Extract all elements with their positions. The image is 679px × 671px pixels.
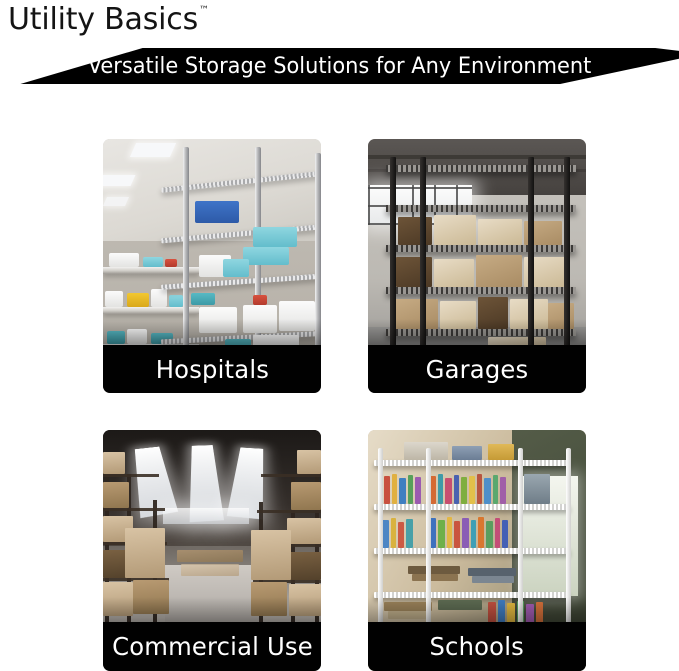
pallet-load <box>297 450 321 474</box>
brand-name: Utility Basics <box>8 2 198 38</box>
book-spine <box>398 522 404 548</box>
storage-bin <box>253 295 267 305</box>
cardboard-box <box>434 259 474 287</box>
cardboard-box <box>396 257 432 287</box>
ceiling-light <box>103 175 135 186</box>
book-stack <box>384 602 432 611</box>
shelf-post <box>183 147 189 377</box>
book-spine <box>477 474 482 504</box>
book-stack <box>408 566 460 574</box>
shelf-post <box>564 157 570 373</box>
cardboard-box <box>478 219 522 245</box>
book-spine <box>493 475 498 504</box>
storage-bin <box>279 301 315 331</box>
pallet-load <box>177 550 243 562</box>
supply-item <box>151 289 167 307</box>
book-stack <box>388 611 430 619</box>
pallet-load <box>103 582 133 616</box>
supply-item <box>109 253 139 267</box>
cardboard-box <box>478 297 508 329</box>
shelf-post <box>528 157 534 373</box>
book-spine <box>438 520 445 548</box>
wire-shelf <box>374 548 570 554</box>
book-spine <box>454 475 459 504</box>
category-card-schools[interactable]: Schools <box>368 430 586 671</box>
shelf-post <box>518 448 523 644</box>
pallet-load <box>125 528 165 578</box>
book-spine <box>384 476 390 504</box>
category-label: Schools <box>430 632 524 661</box>
rack-beam <box>103 474 159 477</box>
shelf-item <box>524 474 550 504</box>
book-stack <box>412 574 458 581</box>
rack-beam <box>257 510 321 513</box>
shelf-post <box>315 153 321 375</box>
ceiling-light <box>130 143 176 157</box>
book-spine <box>408 475 413 504</box>
category-label-bar: Hospitals <box>103 345 321 393</box>
wire-shelf <box>386 205 576 212</box>
shelf-post <box>566 448 571 644</box>
category-label-bar: Schools <box>368 622 586 671</box>
shelf-post <box>420 157 426 373</box>
wire-shelf <box>374 460 570 466</box>
book-spine <box>500 477 506 504</box>
storage-bin <box>191 293 215 305</box>
book-spine <box>391 518 396 548</box>
pallet-load <box>133 580 169 614</box>
book-spine <box>406 519 413 548</box>
wire-shelf <box>386 287 576 294</box>
storage-bin <box>223 259 249 277</box>
banner-headline: Versatile Storage Solutions for Any Envi… <box>17 48 662 84</box>
cardboard-box <box>398 217 432 245</box>
pallet-load <box>251 582 287 616</box>
pallet-load <box>103 452 125 474</box>
pallet-load <box>291 482 321 510</box>
shelf-item <box>452 446 482 460</box>
book-spine <box>502 520 508 548</box>
category-label: Garages <box>426 355 529 384</box>
book-spine <box>438 474 443 504</box>
supply-item <box>169 295 183 307</box>
cardboard-box <box>434 215 476 245</box>
category-grid: Hospitals <box>103 139 586 671</box>
skylight <box>163 508 249 524</box>
book-spine <box>486 521 493 548</box>
wire-shelf <box>386 329 576 336</box>
storage-bin <box>195 201 239 223</box>
ceiling-duct <box>368 155 586 159</box>
supply-item <box>165 259 177 267</box>
supply-item <box>107 331 125 344</box>
book-spine <box>447 517 452 548</box>
headline-banner: Versatile Storage Solutions for Any Envi… <box>0 48 679 84</box>
shelf-post <box>378 448 383 644</box>
book-spine <box>415 477 421 504</box>
supply-item <box>127 293 149 307</box>
category-label: Commercial Use <box>112 632 313 661</box>
cardboard-box <box>394 299 438 329</box>
book-spine <box>471 520 476 548</box>
category-label-bar: Commercial Use <box>103 622 321 671</box>
storage-bin <box>243 247 289 265</box>
pallet-load <box>287 518 321 544</box>
pallet-load <box>289 584 321 616</box>
book-spine <box>445 478 452 504</box>
shelf-post <box>390 157 396 373</box>
book-spine <box>461 477 467 504</box>
category-card-garages[interactable]: Garages <box>368 139 586 393</box>
book-spine <box>495 518 500 548</box>
linen-stack <box>199 307 237 333</box>
shelf-item <box>488 444 514 460</box>
book-spine <box>469 476 475 504</box>
rack-beam <box>261 474 321 477</box>
book-spine <box>484 478 491 504</box>
category-label: Hospitals <box>155 355 268 384</box>
book-spine <box>382 520 389 548</box>
category-card-hospitals[interactable]: Hospitals <box>103 139 321 393</box>
wire-shelf <box>386 165 576 172</box>
wire-shelf <box>374 504 570 510</box>
cardboard-box <box>548 303 574 329</box>
pallet-load <box>181 564 239 576</box>
book-stack <box>438 600 482 610</box>
book-spine <box>462 518 469 548</box>
pallet-load <box>103 482 129 508</box>
pallet-load <box>251 530 291 580</box>
wire-shelf <box>386 245 576 252</box>
category-label-bar: Garages <box>368 345 586 393</box>
rack-beam <box>103 508 165 511</box>
trademark-symbol: ™ <box>199 5 209 17</box>
cardboard-box <box>440 301 476 329</box>
supply-item <box>127 329 147 344</box>
cardboard-box <box>476 255 522 287</box>
supply-item <box>143 257 163 267</box>
shelf-post <box>426 448 431 644</box>
storage-bin <box>253 227 297 247</box>
book-spine <box>478 517 484 548</box>
category-card-commercial-use[interactable]: Commercial Use <box>103 430 321 671</box>
book-spine <box>392 474 397 504</box>
wire-shelf <box>374 592 570 598</box>
book-stack <box>468 568 516 576</box>
supply-item <box>105 291 123 307</box>
book-stack <box>472 576 514 583</box>
book-spine <box>454 521 460 548</box>
ceiling-light <box>103 197 129 206</box>
book-spine <box>399 478 406 504</box>
linen-stack <box>243 305 277 333</box>
brand-logo: Utility Basics ™ <box>8 2 209 42</box>
